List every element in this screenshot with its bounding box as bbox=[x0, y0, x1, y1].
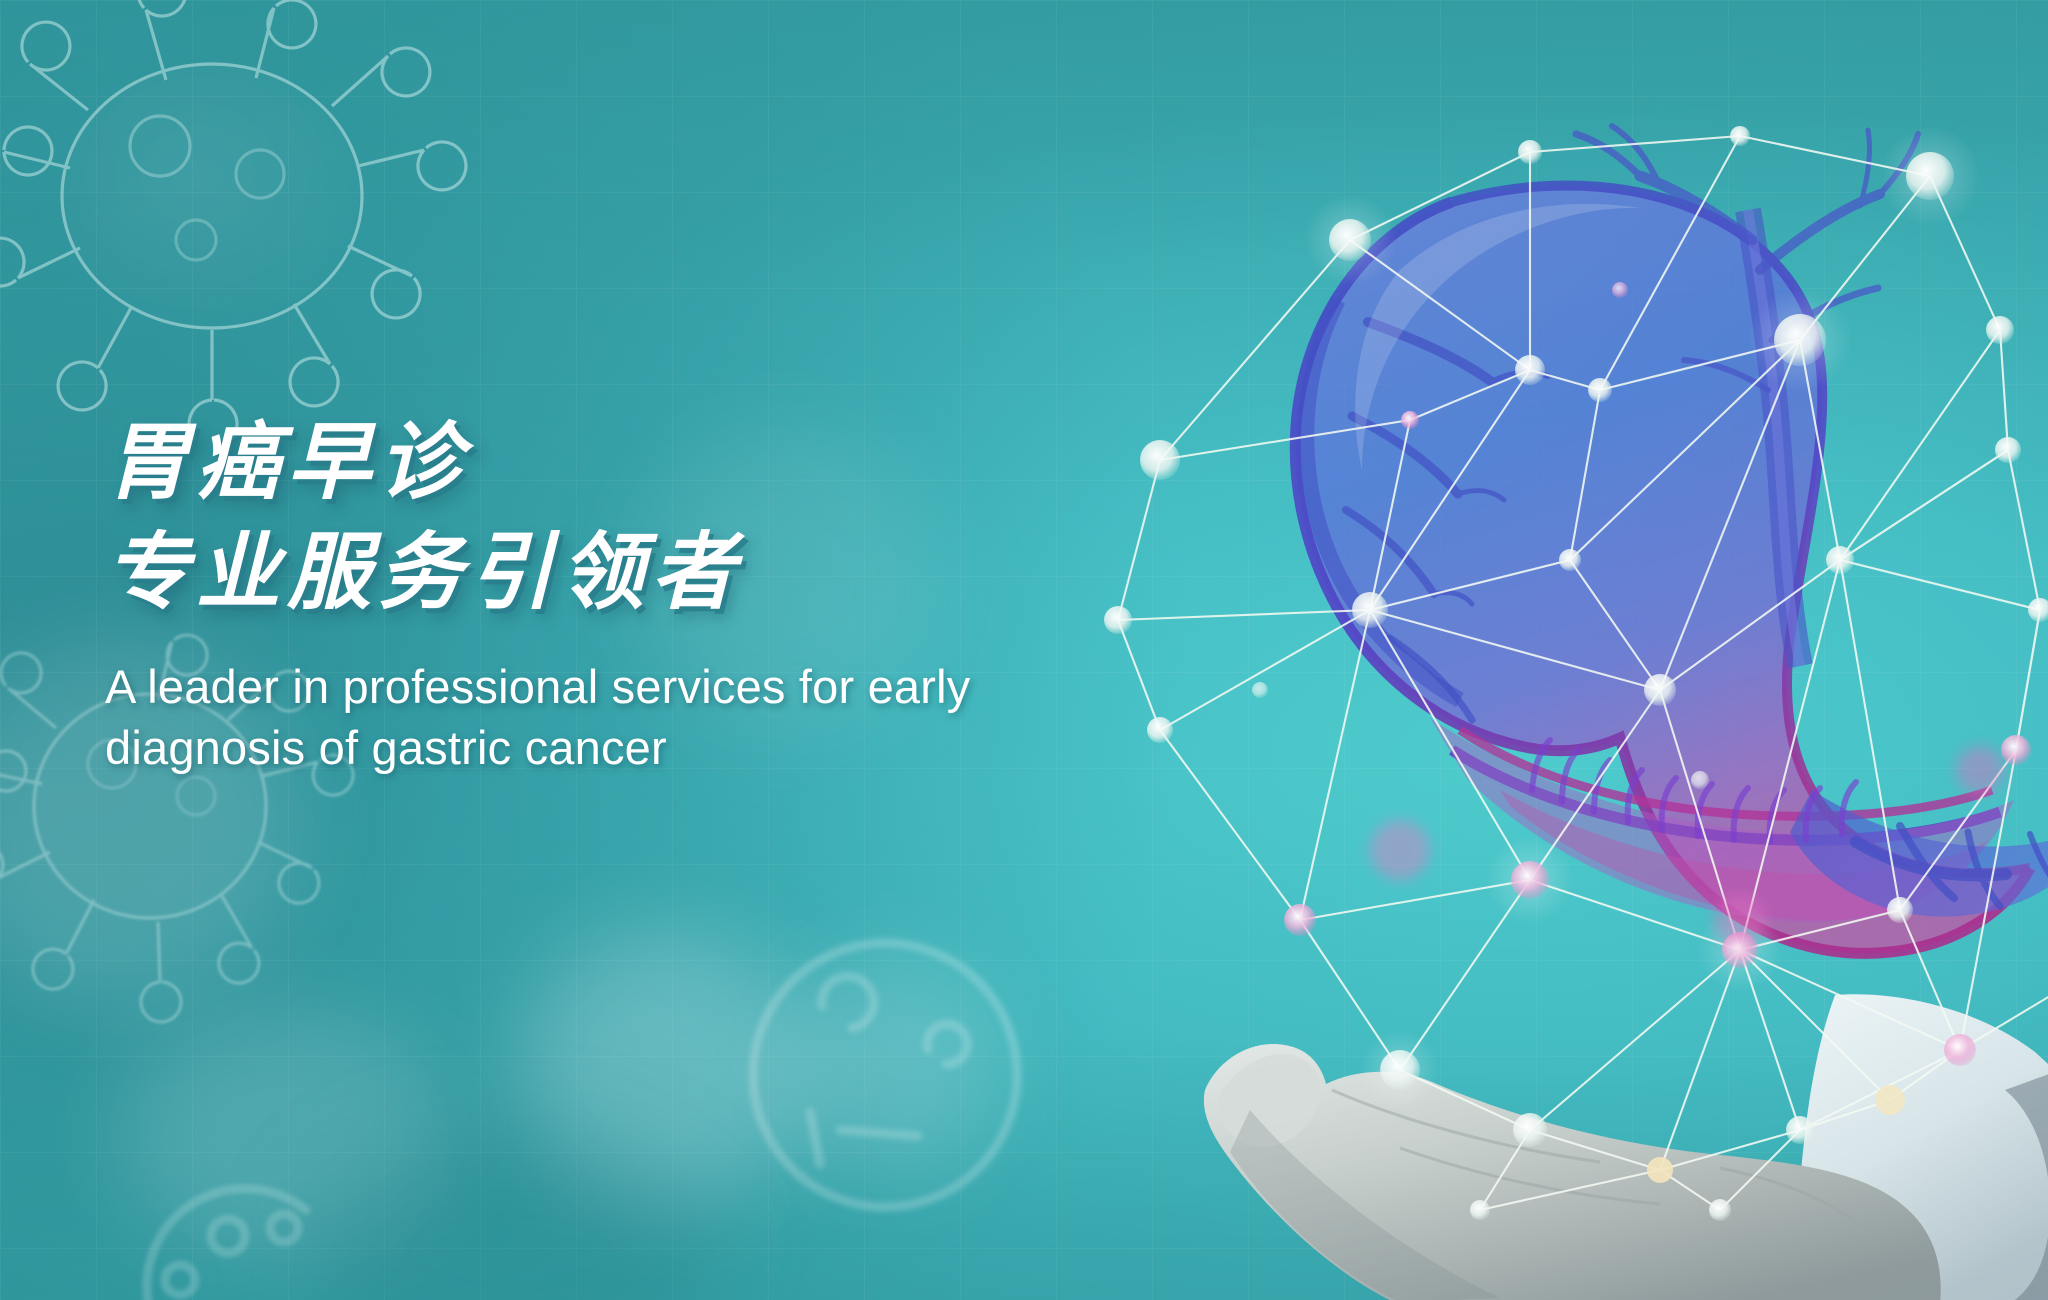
hand-holding-stomach-illustration bbox=[1100, 90, 2048, 1300]
virus-particle-icon bbox=[690, 880, 1080, 1270]
subtitle-block: A leader in professional services for ea… bbox=[105, 656, 1165, 778]
subtitle-line-2: diagnosis of gastric cancer bbox=[105, 717, 1165, 778]
hero-banner: 胃癌早诊 专业服务引领者 A leader in professional se… bbox=[0, 0, 2048, 1300]
virus-particle-icon bbox=[0, 0, 480, 440]
headline-line-2: 专业服务引领者 bbox=[105, 530, 1165, 614]
hand-graphic bbox=[1204, 994, 2048, 1300]
headline-line-1: 胃癌早诊 bbox=[105, 420, 1165, 504]
subtitle-line-1: A leader in professional services for ea… bbox=[105, 656, 1165, 717]
virus-particle-icon bbox=[60, 1060, 390, 1300]
hero-copy-block: 胃癌早诊 专业服务引领者 A leader in professional se… bbox=[105, 420, 1165, 778]
